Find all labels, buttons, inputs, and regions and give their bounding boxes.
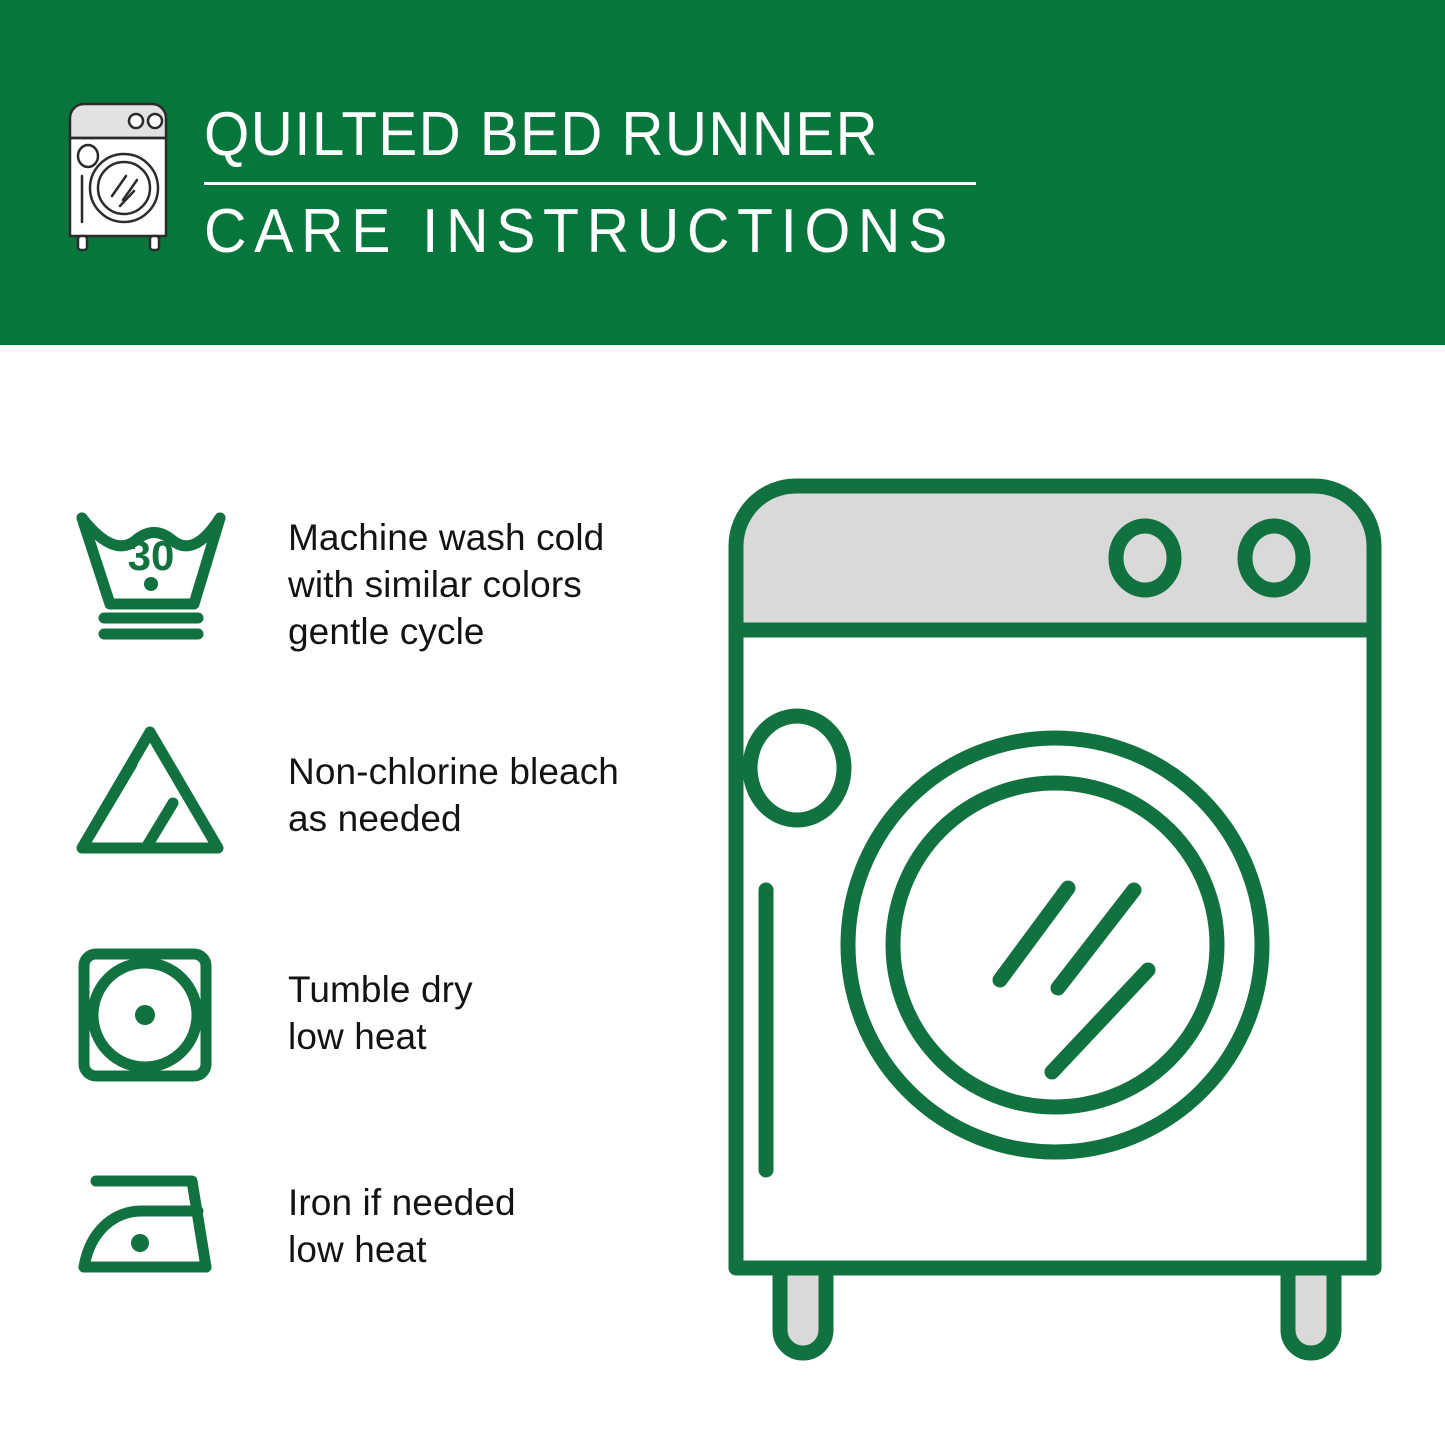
title-divider [204, 182, 976, 185]
care-text-iron: Iron if needed low heat [288, 1155, 516, 1273]
washing-machine-logo-icon [62, 96, 184, 256]
control-panel [736, 486, 1374, 630]
reflection-line-1 [1000, 888, 1068, 980]
page-title: QUILTED BED RUNNER [204, 100, 947, 170]
door-outer-ring [848, 738, 1262, 1152]
care-instructions-list: 30 Machine wash cold with similar colors… [0, 345, 660, 1445]
wash-temperature-value: 30 [128, 532, 175, 579]
washing-machine-illustration [700, 470, 1410, 1380]
leg-right [1288, 1268, 1334, 1353]
leg-left [780, 1268, 826, 1353]
bleach-triangle-icon [70, 720, 230, 870]
care-row-machine-wash: 30 Machine wash cold with similar colors… [70, 500, 630, 655]
header-banner: QUILTED BED RUNNER CARE INSTRUCTIONS [0, 0, 1445, 345]
header-content: QUILTED BED RUNNER CARE INSTRUCTIONS [62, 96, 994, 267]
care-row-tumble-dry: Tumble dry low heat [70, 940, 630, 1090]
tumble-dry-low-icon [70, 940, 230, 1090]
care-row-iron: Iron if needed low heat [70, 1155, 630, 1305]
care-text-bleach: Non-chlorine bleach as needed [288, 720, 619, 842]
wash-tub-30-icon: 30 [70, 500, 230, 650]
reflection-line-2 [1058, 890, 1134, 988]
iron-low-icon [70, 1155, 230, 1305]
power-button [750, 716, 844, 820]
care-row-bleach: Non-chlorine bleach as needed [70, 720, 630, 870]
care-text-tumble-dry: Tumble dry low heat [288, 940, 473, 1060]
care-text-machine-wash: Machine wash cold with similar colors ge… [288, 500, 604, 655]
header-title-block: QUILTED BED RUNNER CARE INSTRUCTIONS [204, 96, 994, 267]
page-subtitle: CARE INSTRUCTIONS [204, 197, 955, 267]
